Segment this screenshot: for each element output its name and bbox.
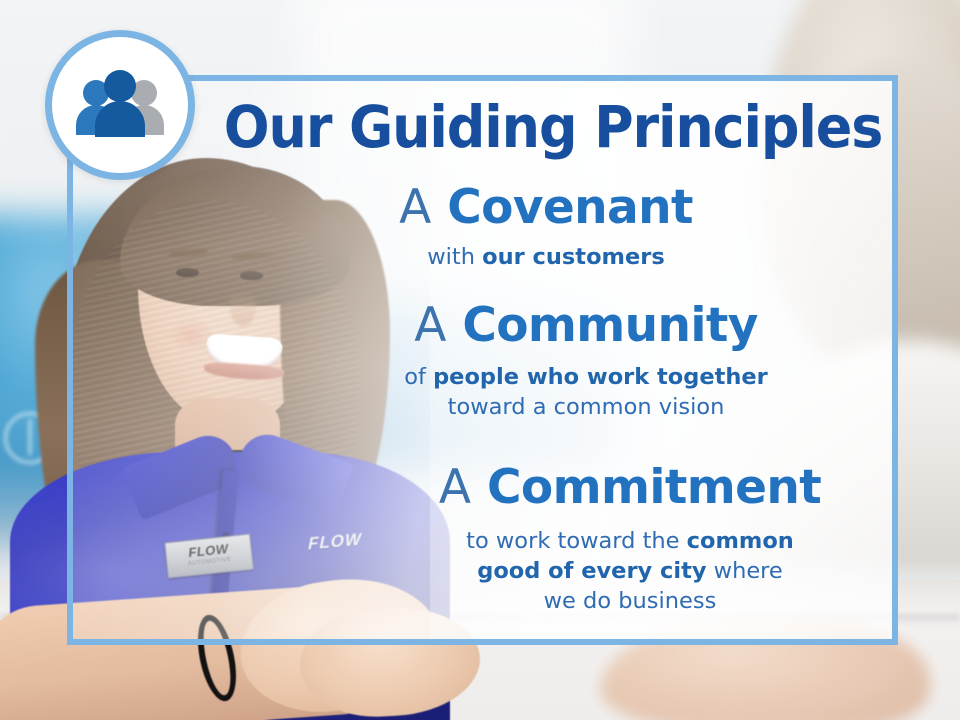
principle-commitment-sub-regular: to work toward the (466, 528, 687, 554)
people-group-icon (68, 69, 172, 141)
principle-commitment-sub2-bold: good of every city (477, 558, 706, 584)
principle-covenant-sub-bold: our customers (482, 244, 665, 270)
principle-community-subtitle: of people who work together (250, 362, 922, 392)
principle-commitment-subtitle-line2: good of every city where (294, 556, 960, 586)
principle-commitment-article: A (439, 460, 472, 515)
employee-eye-left (176, 268, 199, 277)
principle-covenant-word: Covenant (447, 180, 693, 235)
principle-community-sub-regular: of (404, 364, 433, 390)
principle-covenant-article: A (399, 180, 432, 235)
principle-community-article: A (414, 298, 447, 353)
principle-commitment-sub-bold: common (687, 528, 794, 554)
principle-commitment-title: A Commitment (294, 460, 960, 516)
principle-covenant-sub-regular: with (427, 244, 482, 270)
principle-commitment: A Commitment to work toward the common g… (294, 460, 960, 616)
principle-covenant: A Covenant with our customers (210, 180, 882, 272)
principle-commitment-word: Commitment (487, 460, 821, 515)
principle-covenant-title: A Covenant (210, 180, 882, 236)
principle-commitment-subtitle-line3: we do business (294, 586, 960, 616)
page-title: Our Guiding Principles (224, 96, 856, 158)
principle-community-subtitle-line2: toward a common vision (250, 392, 922, 422)
principle-commitment-subtitle-line1: to work toward the common (294, 526, 960, 556)
principle-covenant-subtitle: with our customers (210, 242, 882, 272)
principle-community-sub-bold: people who work together (433, 364, 768, 390)
principle-commitment-sub2-regular: where (707, 558, 783, 584)
guiding-principles-banner: FLOW FLOW AUTOMOTIVE (0, 0, 960, 720)
people-group-icon-badge (45, 30, 195, 180)
principle-community-title: A Community (250, 298, 922, 354)
principle-community: A Community of people who work together … (250, 298, 922, 422)
principle-community-word: Community (462, 298, 757, 353)
employee-eye-right (240, 271, 263, 280)
